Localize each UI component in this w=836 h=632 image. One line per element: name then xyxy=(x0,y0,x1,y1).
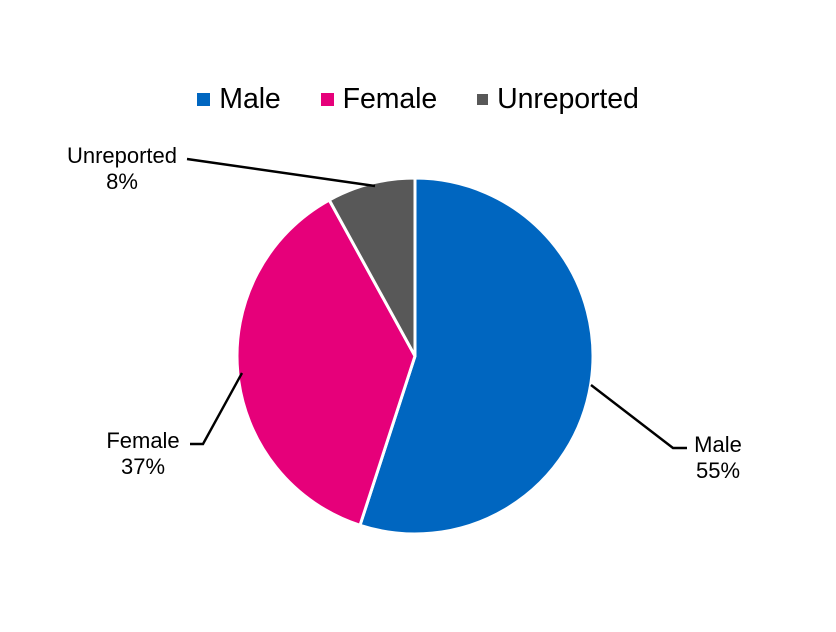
callout-label-female: Female 37% xyxy=(97,428,189,480)
leader-line-female xyxy=(190,373,242,444)
callout-name-male: Male xyxy=(684,432,752,458)
callout-name-unreported: Unreported xyxy=(56,143,188,169)
callout-label-male: Male 55% xyxy=(684,432,752,484)
callout-value-unreported: 8% xyxy=(56,169,188,195)
pie-chart: Male Female Unreported Unreported 8% Fem… xyxy=(0,0,836,632)
leader-line-male xyxy=(591,385,687,448)
callout-value-female: 37% xyxy=(97,454,189,480)
leader-line-unreported xyxy=(187,159,375,186)
pie-slice-group xyxy=(237,178,593,534)
callout-name-female: Female xyxy=(97,428,189,454)
pie-svg xyxy=(0,0,836,632)
callout-label-unreported: Unreported 8% xyxy=(56,143,188,195)
callout-value-male: 55% xyxy=(684,458,752,484)
